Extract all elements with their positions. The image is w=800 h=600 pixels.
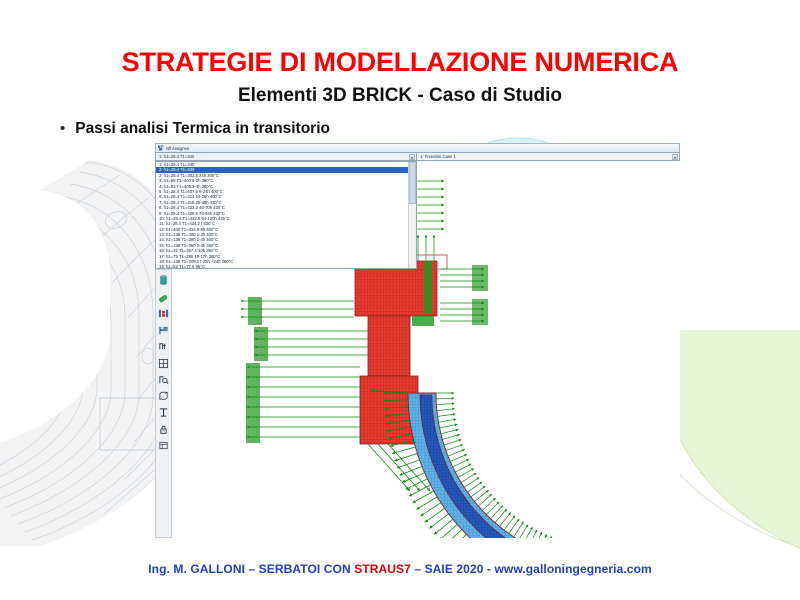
dropdown-scrollbar-thumb[interactable] bbox=[409, 162, 416, 204]
eraser-icon[interactable] bbox=[158, 292, 169, 303]
chevron-down-icon[interactable]: ▾ bbox=[409, 154, 415, 160]
dropdown-scrollbar[interactable] bbox=[408, 162, 416, 269]
bullet-text: Passi analisi Termica in transitorio bbox=[75, 119, 330, 138]
chevron-down-icon[interactable]: ▾ bbox=[672, 154, 678, 160]
table-icon[interactable] bbox=[158, 440, 169, 451]
freedom-case-combo-value: 1: Freedom Case 1 bbox=[417, 154, 456, 159]
presentation-slide: STRATEGIE DI MODELLAZIONE NUMERICA Eleme… bbox=[0, 0, 800, 600]
vertical-toolbar[interactable] bbox=[155, 269, 172, 538]
slide-subtitle: Elementi 3D BRICK - Caso di Studio bbox=[0, 85, 800, 107]
load-case-combo-value: 1: h1=28.4 T1=340 bbox=[156, 154, 194, 159]
beam-icon[interactable] bbox=[158, 407, 169, 418]
footer-highlight: STRAUS7 bbox=[354, 562, 411, 576]
dropdown-item[interactable]: 19: h1=52 T1=77.5 95°C bbox=[156, 264, 416, 269]
scale-icon[interactable] bbox=[158, 374, 169, 385]
slide-footer: Ing. M. GALLONI – SERBATOI CON STRAUS7 –… bbox=[0, 562, 800, 576]
load-case-combo[interactable]: 1: h1=28.4 T1=340 ▾ bbox=[155, 152, 417, 161]
grid-icon[interactable] bbox=[158, 358, 169, 369]
app-window-title: Nfl Assignee bbox=[166, 146, 189, 151]
window-app-icon bbox=[158, 145, 164, 151]
bullet-row: • Passi analisi Termica in transitorio bbox=[60, 119, 330, 138]
brick-element-icon[interactable] bbox=[158, 391, 169, 402]
lock-icon[interactable] bbox=[158, 424, 169, 435]
database-icon[interactable] bbox=[158, 275, 169, 286]
node-restraint-icon[interactable] bbox=[158, 308, 169, 319]
flag-attribute-icon[interactable] bbox=[158, 325, 169, 336]
footer-part-1: Ing. M. GALLONI – SERBATOI CON bbox=[148, 562, 354, 576]
move-node-icon[interactable] bbox=[158, 341, 169, 352]
bullet-marker-icon: • bbox=[60, 119, 65, 138]
freedom-case-combo[interactable]: 1: Freedom Case 1 ▾ bbox=[417, 152, 680, 161]
load-case-dropdown-list[interactable]: 1: h1=28.4 T1=3402: h1=28.4 T1=3402: h1=… bbox=[155, 161, 417, 269]
slide-title: STRATEGIE DI MODELLAZIONE NUMERICA bbox=[0, 47, 800, 78]
footer-part-2: – SAIE 2020 - www.galloningegneria.com bbox=[411, 562, 652, 576]
dropdown-items-container[interactable]: 1: h1=28.4 T1=3402: h1=28.4 T1=3402: h1=… bbox=[156, 162, 416, 269]
straus7-application-window: Nfl Assignee 1: h1=28.4 T1=340 ▾ 1: Free… bbox=[155, 143, 680, 538]
app-titlebar[interactable]: Nfl Assignee bbox=[155, 143, 680, 152]
combo-row: 1: h1=28.4 T1=340 ▾ 1: Freedom Case 1 ▾ bbox=[155, 152, 680, 161]
